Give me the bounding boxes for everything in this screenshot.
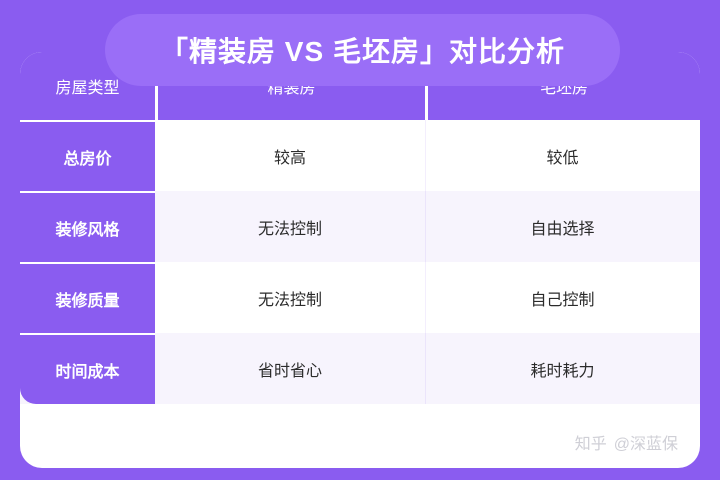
poster-canvas: 优好Club 房屋类型 精装房 毛坯房 总房价 较高 较低 装修风格 无法控制 … [0,0,720,480]
row-label-total-price: 总房价 [20,120,155,191]
page-title: 「精装房 VS 毛坯房」对比分析 [160,30,565,70]
row-value-bare-time-cost: 耗时耗力 [425,333,700,404]
content-card: 优好Club 房屋类型 精装房 毛坯房 总房价 较高 较低 装修风格 无法控制 … [20,52,700,468]
table-row: 时间成本 省时省心 耗时耗力 [20,333,700,404]
row-value-fitted-decor-style: 无法控制 [155,191,425,262]
zhihu-watermark: 知乎 @深蓝保 [575,430,678,454]
zhihu-account-label: @深蓝保 [614,430,678,454]
comparison-table: 房屋类型 精装房 毛坯房 总房价 较高 较低 装修风格 无法控制 自由选择 装修… [20,52,700,404]
row-value-fitted-total-price: 较高 [155,120,425,191]
row-value-bare-decor-quality: 自己控制 [425,262,700,333]
row-value-bare-total-price: 较低 [425,120,700,191]
table-row: 装修风格 无法控制 自由选择 [20,191,700,262]
row-value-fitted-decor-quality: 无法控制 [155,262,425,333]
table-row: 装修质量 无法控制 自己控制 [20,262,700,333]
table-row: 总房价 较高 较低 [20,120,700,191]
row-label-decor-quality: 装修质量 [20,262,155,333]
row-label-decor-style: 装修风格 [20,191,155,262]
row-label-time-cost: 时间成本 [20,333,155,404]
row-value-bare-decor-style: 自由选择 [425,191,700,262]
row-value-fitted-time-cost: 省时省心 [155,333,425,404]
title-banner: 「精装房 VS 毛坯房」对比分析 [105,14,620,86]
zhihu-platform-label: 知乎 [575,430,607,454]
